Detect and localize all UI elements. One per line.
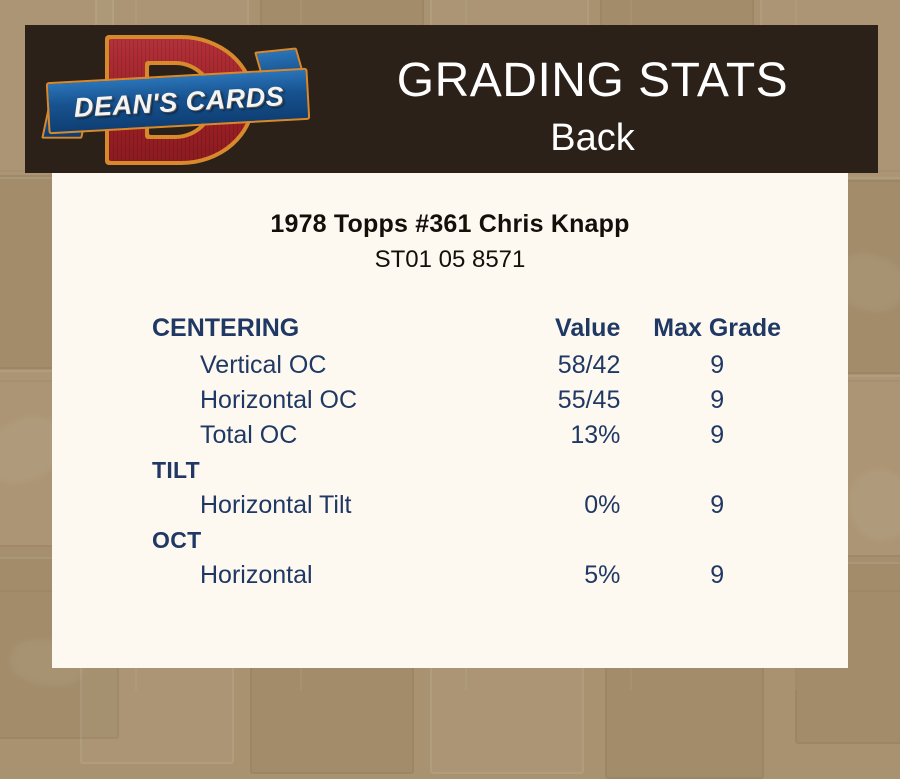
column-header-centering: CENTERING (52, 308, 502, 348)
stat-value: 0% (502, 488, 635, 523)
stat-label: Horizontal (52, 558, 502, 593)
column-header-value: Value (502, 308, 635, 348)
table-header: CENTERING Value Max Grade (52, 308, 848, 348)
stat-max-grade: 9 (634, 348, 848, 383)
deans-cards-logo[interactable]: DEAN'S CARDS (47, 29, 309, 169)
table-header-row: CENTERING Value Max Grade (52, 308, 848, 348)
table-row: Horizontal5%9 (52, 558, 848, 593)
section-header-row: TILT (52, 453, 848, 488)
table-row: Total OC13%9 (52, 418, 848, 453)
card-serial-number: ST01 05 8571 (52, 246, 848, 274)
grading-stats-table: CENTERING Value Max Grade Vertical OC58/… (52, 308, 848, 593)
stat-label: Total OC (52, 418, 502, 453)
content-panel: 1978 Topps #361 Chris Knapp ST01 05 8571… (52, 173, 848, 668)
stat-label: Horizontal Tilt (52, 488, 502, 523)
stat-label: Horizontal OC (52, 383, 502, 418)
card-title: 1978 Topps #361 Chris Knapp (52, 210, 848, 239)
stat-max-grade: 9 (634, 558, 848, 593)
section-label: OCT (52, 523, 848, 558)
table-body: Vertical OC58/429Horizontal OC55/459Tota… (52, 348, 848, 593)
header-bar: DEAN'S CARDS GRADING STATS Back (25, 25, 878, 173)
stat-value: 58/42 (502, 348, 635, 383)
column-header-max-grade: Max Grade (634, 308, 848, 348)
page-title: GRADING STATS (315, 53, 870, 109)
stat-max-grade: 9 (634, 488, 848, 523)
stat-label: Vertical OC (52, 348, 502, 383)
stat-value: 55/45 (502, 383, 635, 418)
stat-value: 5% (502, 558, 635, 593)
section-label: TILT (52, 453, 848, 488)
table-row: Horizontal Tilt0%9 (52, 488, 848, 523)
stat-max-grade: 9 (634, 383, 848, 418)
table-row: Vertical OC58/429 (52, 348, 848, 383)
table-row: Horizontal OC55/459 (52, 383, 848, 418)
page-subtitle: Back (315, 115, 870, 161)
stat-value: 13% (502, 418, 635, 453)
stat-max-grade: 9 (634, 418, 848, 453)
section-header-row: OCT (52, 523, 848, 558)
